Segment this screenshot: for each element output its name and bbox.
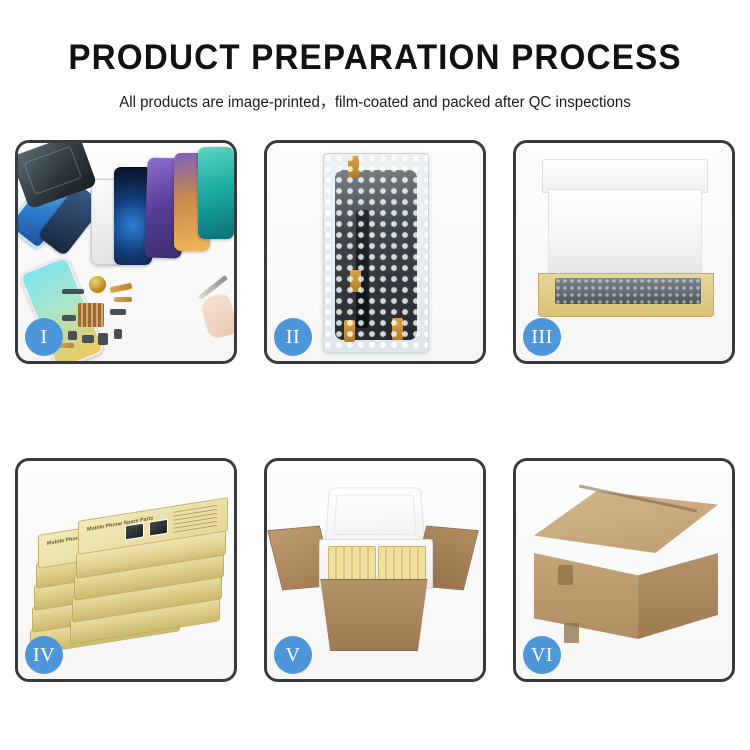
carton-side-face xyxy=(638,553,718,639)
step-badge-1: I xyxy=(25,318,63,356)
connector-tab xyxy=(350,270,361,292)
small-part xyxy=(98,333,108,345)
process-steps-grid: I II xyxy=(15,140,735,682)
connector-tab xyxy=(348,156,359,178)
screen-flex-strip xyxy=(356,210,369,328)
bubble-wrap-bag xyxy=(323,153,429,353)
infographic-page: PRODUCT PREPARATION PROCESS All products… xyxy=(0,0,750,750)
small-part xyxy=(62,315,76,321)
chip-grid-part xyxy=(78,303,104,327)
carton-tape xyxy=(558,565,573,585)
step-panel-6: VI xyxy=(513,458,735,682)
page-subtitle: All products are image-printed，film-coat… xyxy=(11,90,739,112)
packed-product xyxy=(328,546,376,582)
box-stack: Mobile Phone Spare Parts Mobile Phone Sp… xyxy=(30,479,230,669)
small-part xyxy=(82,335,94,343)
flex-cable-part xyxy=(114,297,132,302)
step-badge-6: VI xyxy=(523,636,561,674)
page-title: PRODUCT PREPARATION PROCESS xyxy=(19,38,732,78)
step-badge-5: V xyxy=(274,636,312,674)
step-badge-3: III xyxy=(523,318,561,356)
box-label-screen-image xyxy=(149,519,168,537)
small-part xyxy=(68,331,77,340)
phone-screen-teal xyxy=(198,147,234,239)
flex-cable-part xyxy=(110,283,133,293)
kraft-box-tray xyxy=(538,273,714,317)
step-panel-4: Mobile Phone Spare Parts Mobile Phone Sp… xyxy=(15,458,237,682)
hand xyxy=(199,292,234,341)
wrapped-screen xyxy=(335,170,417,340)
carton-tape xyxy=(564,623,579,643)
box-label-specs xyxy=(173,505,217,534)
box-lid-back xyxy=(542,159,708,193)
step-panel-5: V xyxy=(264,458,486,682)
carton-front-face xyxy=(534,553,638,639)
speaker-part-icon xyxy=(89,276,106,293)
packed-product xyxy=(378,546,426,582)
connector-tab xyxy=(392,318,403,340)
box-label-screen-image xyxy=(125,522,144,540)
foam-box-lid xyxy=(324,487,425,543)
step-panel-2: II xyxy=(264,140,486,364)
carton-body xyxy=(313,579,435,651)
step-panel-1: I xyxy=(15,140,237,364)
box-lid-face xyxy=(548,189,702,275)
connector-tab xyxy=(344,320,355,342)
step-badge-4: IV xyxy=(25,636,63,674)
small-part xyxy=(62,289,84,294)
bubble-wrapped-contents xyxy=(555,278,701,304)
small-part xyxy=(110,309,126,315)
step-badge-2: II xyxy=(274,318,312,356)
header: PRODUCT PREPARATION PROCESS All products… xyxy=(0,0,750,112)
carton-top-face xyxy=(534,491,718,553)
small-part xyxy=(114,329,122,339)
step-panel-3: III xyxy=(513,140,735,364)
